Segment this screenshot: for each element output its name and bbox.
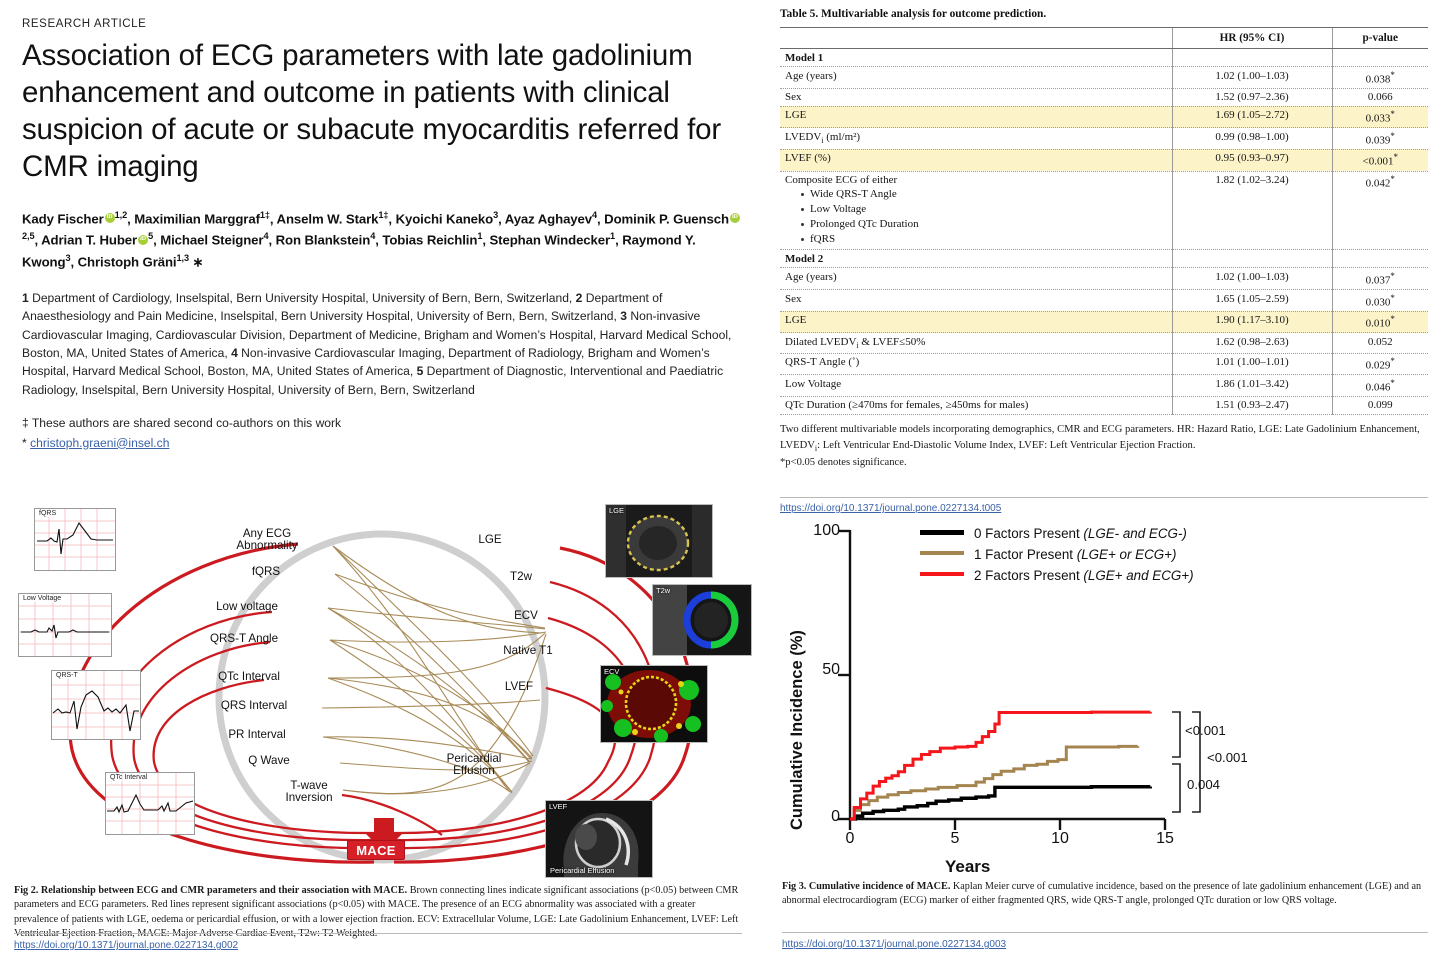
affiliation-number: 3 [620, 309, 630, 323]
table-cell-pvalue [1332, 250, 1428, 268]
table-row: Low Voltage1.86 (1.01–3.42)0.046* [780, 375, 1428, 397]
ecg-label-qtc-interval: QTc Interval [194, 671, 304, 683]
article-kicker: RESEARCH ARTICLE [22, 18, 744, 30]
table-cell-pvalue: 0.038* [1332, 67, 1428, 89]
table-col-label [780, 28, 1172, 49]
right-column: Table 5. Multivariable analysis for outc… [780, 8, 1430, 471]
table-row: LVEDVi (ml/m²)0.99 (0.98–1.00)0.039* [780, 128, 1428, 150]
chart-series-group [850, 712, 1150, 819]
author-affiliation-marker: 4 [370, 231, 375, 241]
table-cell-hr: 1.65 (1.05–2.59) [1172, 290, 1332, 312]
ecg-thumb-qrs-t: QRS-T [51, 670, 141, 740]
table-row: Age (years)1.02 (1.00–1.03)0.037* [780, 268, 1428, 290]
ecg-label-qrs-t-angle: QRS-T Angle [184, 633, 304, 645]
author-name: Maximilian Marggraf [134, 211, 260, 226]
author-name: Kyoichi Kaneko [396, 211, 494, 226]
table-cell-label: Model 2 [780, 250, 1172, 268]
table-cell-pvalue: <0.001* [1332, 149, 1428, 171]
ecg-label-low-voltage: Low voltage [191, 601, 303, 613]
chart-pvalue-brown-vs-black: 0.004 [1187, 777, 1220, 792]
cmr-thumb-ecv: ECV [600, 665, 708, 743]
ecg-thumb-low-voltage-label: Low Voltage [22, 595, 62, 602]
author-list: Kady Fischer1,2, Maximilian Marggraf1‡, … [22, 208, 744, 273]
table-cell-label: LVEF (%) [780, 149, 1172, 171]
ecg-thumb-qrs-t-label: QRS-T [55, 672, 79, 679]
cmr-thumb-t2w-label: T2w [656, 586, 670, 595]
table-cell-pvalue: 0.037* [1332, 268, 1428, 290]
figure-2: Any ECG Abnormality fQRS Low voltage QRS… [12, 500, 750, 892]
table-header-row: HR (95% CI) p-value [780, 28, 1428, 49]
table-5-body: Model 1Age (years)1.02 (1.00–1.03)0.038*… [780, 49, 1428, 415]
table-cell-pvalue: 0.010* [1332, 311, 1428, 333]
figure-3-caption-bold: Fig 3. Cumulative incidence of MACE. [782, 881, 950, 892]
ecg-label-qrs-interval: QRS Interval [198, 700, 310, 712]
table-cell-hr: 1.52 (0.97–2.36) [1172, 88, 1332, 106]
chart-plot-area [780, 520, 1420, 850]
table-row: Age (years)1.02 (1.00–1.03)0.038* [780, 67, 1428, 89]
table-cell-pvalue: 0.099 [1332, 396, 1428, 414]
affiliation-number: 1 [22, 291, 32, 305]
author-name: Michael Steigner [160, 233, 263, 248]
affiliation-number: 4 [231, 346, 241, 360]
ecg-thumb-qtc-interval-label: QTc Interval [109, 774, 148, 781]
table-cell-label: Age (years) [780, 67, 1172, 89]
left-column: RESEARCH ARTICLE Association of ECG para… [22, 18, 744, 453]
table-bullet-item: Low Voltage [801, 202, 1167, 217]
author-affiliation-marker: 4 [263, 231, 268, 241]
table-model-row: Model 1 [780, 49, 1428, 67]
table-cell-label: Dilated LVEDVi & LVEF≤50% [780, 333, 1172, 353]
cmr-label-lvef: LVEF [492, 681, 546, 693]
table-cell-hr: 1.69 (1.05–2.72) [1172, 106, 1332, 128]
article-page: RESEARCH ARTICLE Association of ECG para… [0, 0, 1456, 966]
cmr-label-t2w: T2w [495, 571, 547, 583]
chart-x-axis-label: Years [945, 857, 990, 877]
table-5-divider [780, 497, 1428, 498]
author-affiliation-marker: 5 [148, 231, 153, 241]
corresponding-author-marker: ∗ [189, 254, 204, 269]
table-row: Dilated LVEDVi & LVEF≤50%1.62 (0.98–2.63… [780, 333, 1428, 353]
ecg-label-t-wave-inversion: T-wave Inversion [267, 780, 351, 805]
table-cell-pvalue: 0.029* [1332, 353, 1428, 375]
table-col-pvalue: p-value [1332, 28, 1428, 49]
table-cell-label: Low Voltage [780, 375, 1172, 397]
orcid-icon[interactable] [138, 235, 148, 245]
page-title: Association of ECG parameters with late … [22, 38, 744, 186]
table-cell-label: LGE [780, 106, 1172, 128]
cmr-label-native-t1: Native T1 [490, 645, 566, 657]
table-cell-pvalue: 0.033* [1332, 106, 1428, 128]
table-5-title: Table 5. Multivariable analysis for outc… [780, 8, 1430, 20]
figure-2-caption-bold: Fig 2. Relationship between ECG and CMR … [14, 885, 407, 896]
figure-2-doi-link[interactable]: https://doi.org/10.1371/journal.pone.022… [14, 940, 238, 951]
corresponding-email-link[interactable]: christoph.graeni@insel.ch [30, 436, 169, 450]
cmr-label-lge: LGE [464, 534, 516, 546]
table-row: Sex1.65 (1.05–2.59)0.030* [780, 290, 1428, 312]
table-cell-label: Sex [780, 290, 1172, 312]
orcid-icon[interactable] [105, 213, 115, 223]
cmr-thumb-lvef-label: LVEF [549, 802, 567, 811]
table-cell-label: Sex [780, 88, 1172, 106]
cmr-thumb-lge-label: LGE [609, 506, 624, 515]
ecg-label-q-wave: Q Wave [228, 755, 310, 767]
author-name: Christoph Gräni [78, 254, 177, 269]
table-row: QRS-T Angle (˚)1.01 (1.00–1.01)0.029* [780, 353, 1428, 375]
author-affiliation-marker: 1‡ [378, 210, 388, 220]
cmr-thumb-pericardial-effusion-label: Pericardial Effusion [550, 866, 614, 875]
figure-2-divider [14, 933, 742, 934]
coauthor-note: ‡ These authors are shared second co-aut… [22, 414, 744, 434]
corresponding-note: * christoph.graeni@insel.ch [22, 434, 744, 454]
author-affiliation-marker: 1‡ [260, 210, 270, 220]
chart-series-brown [850, 746, 1138, 819]
table-row: QTc Duration (≥470ms for females, ≥450ms… [780, 396, 1428, 414]
table-cell-pvalue: 0.042* [1332, 171, 1428, 250]
table-cell-hr: 1.82 (1.02–3.24) [1172, 171, 1332, 250]
ecg-thumb-fqrs: fQRS [34, 508, 116, 571]
author-affiliation-marker: 3 [65, 253, 70, 263]
table-col-hr: HR (95% CI) [1172, 28, 1332, 49]
author-affiliation-marker: 1 [610, 231, 615, 241]
table-5-footnotes: Two different multivariable models incor… [780, 422, 1430, 471]
table-model-row: Model 2 [780, 250, 1428, 268]
mace-badge: MACE [347, 840, 405, 860]
table-cell-label: LGE [780, 311, 1172, 333]
figure-3-doi-link[interactable]: https://doi.org/10.1371/journal.pone.022… [782, 939, 1006, 950]
table-cell-hr: 1.86 (1.01–3.42) [1172, 375, 1332, 397]
ecg-label-fqrs: fQRS [229, 566, 303, 578]
table-cell-label: Model 1 [780, 49, 1172, 67]
cmr-thumb-t2w: T2w [652, 584, 752, 656]
author-affiliation-marker: 4 [592, 210, 597, 220]
table-row: LGE1.69 (1.05–2.72)0.033* [780, 106, 1428, 128]
table-cell-pvalue: 0.039* [1332, 128, 1428, 150]
ecg-thumb-qtc-interval: QTc Interval [105, 772, 195, 835]
cmr-thumb-lvef: LVEF Pericardial Effusion [545, 800, 653, 878]
chart-pvalue-overall: <0.001 [1207, 750, 1248, 765]
table-bullet-item: Wide QRS-T Angle [801, 187, 1167, 202]
author-affiliation-marker: 1,2 [115, 210, 127, 220]
table-row: Sex1.52 (0.97–2.36)0.066 [780, 88, 1428, 106]
figure-3-divider [782, 932, 1428, 933]
table-cell-label: Composite ECG of eitherWide QRS-T AngleL… [780, 171, 1172, 250]
author-name: Dominik P. Guensch [604, 211, 729, 226]
author-name: Kady Fischer [22, 211, 104, 226]
table-cell-hr: 0.95 (0.93–0.97) [1172, 149, 1332, 171]
author-name: Stephan Windecker [489, 233, 610, 248]
table-cell-hr [1172, 250, 1332, 268]
table-cell-label: LVEDVi (ml/m²) [780, 128, 1172, 150]
ecg-thumb-low-voltage: Low Voltage [18, 593, 112, 657]
affiliation-number: 2 [576, 291, 586, 305]
chart-series-red [850, 712, 1150, 819]
table-cell-pvalue: 0.052 [1332, 333, 1428, 353]
star-symbol: * [22, 436, 27, 450]
author-affiliation-marker: 3 [493, 210, 498, 220]
cmr-thumb-lge: LGE [605, 504, 713, 578]
author-name: Adrian T. Huber [41, 233, 137, 248]
author-name: Tobias Reichlin [382, 233, 477, 248]
table-row: Composite ECG of eitherWide QRS-T AngleL… [780, 171, 1428, 250]
affiliation-number: 5 [417, 364, 427, 378]
table-5-doi-link[interactable]: https://doi.org/10.1371/journal.pone.022… [780, 503, 1001, 514]
author-notes: ‡ These authors are shared second co-aut… [22, 414, 744, 453]
cmr-label-ecv: ECV [499, 610, 553, 622]
table-5-footnote-2: *p<0.05 denotes significance. [780, 455, 1430, 471]
ecg-thumb-fqrs-label: fQRS [38, 510, 57, 517]
table-bullet-item: fQRS [801, 232, 1167, 247]
table-cell-label: QTc Duration (≥470ms for females, ≥450ms… [780, 396, 1172, 414]
table-cell-hr: 1.02 (1.00–1.03) [1172, 268, 1332, 290]
table-row: LVEF (%)0.95 (0.93–0.97)<0.001* [780, 149, 1428, 171]
author-name: Ron Blankstein [276, 233, 371, 248]
ecg-label-any-ecg-abnormality: Any ECG Abnormality [217, 528, 317, 553]
table-row: LGE1.90 (1.17–3.10)0.010* [780, 311, 1428, 333]
ecg-label-pr-interval: PR Interval [204, 729, 310, 741]
table-5-head: HR (95% CI) p-value [780, 28, 1428, 49]
table-bullet-item: Prolonged QTc Duration [801, 217, 1167, 232]
table-cell-hr: 1.01 (1.00–1.01) [1172, 353, 1332, 375]
chart-series-black [850, 786, 1150, 819]
table-cell-hr [1172, 49, 1332, 67]
affiliations: 1 Department of Cardiology, Inselspital,… [22, 289, 744, 399]
table-cell-bullet-list: Wide QRS-T AngleLow VoltageProlonged QTc… [801, 187, 1167, 247]
table-cell-pvalue [1332, 49, 1428, 67]
cmr-label-pericardial-effusion: Pericardial Effusion [432, 753, 516, 778]
chart-pvalue-red-vs-brown: <0.001 [1185, 723, 1226, 738]
table-cell-pvalue: 0.046* [1332, 375, 1428, 397]
table-cell-hr: 1.02 (1.00–1.03) [1172, 67, 1332, 89]
table-cell-pvalue: 0.030* [1332, 290, 1428, 312]
author-affiliation-marker: 1,3 [176, 253, 188, 263]
table-cell-hr: 0.99 (0.98–1.00) [1172, 128, 1332, 150]
author-affiliation-marker: 1 [477, 231, 482, 241]
author-affiliation-marker: 2,5 [22, 231, 34, 241]
author-name: Ayaz Aghayev [505, 211, 592, 226]
figure-3-caption: Fig 3. Cumulative incidence of MACE. Kap… [782, 880, 1428, 909]
table-cell-hr: 1.62 (0.98–2.63) [1172, 333, 1332, 353]
orcid-icon[interactable] [730, 213, 740, 223]
table-cell-hr: 1.90 (1.17–3.10) [1172, 311, 1332, 333]
author-name: Anselm W. Stark [277, 211, 379, 226]
table-5: HR (95% CI) p-value Model 1Age (years)1.… [780, 27, 1428, 415]
table-5-footnote-1: Two different multivariable models incor… [780, 422, 1430, 455]
table-cell-label: QRS-T Angle (˚) [780, 353, 1172, 375]
cmr-thumb-ecv-label: ECV [604, 667, 619, 676]
table-cell-hr: 1.51 (0.93–2.47) [1172, 396, 1332, 414]
table-cell-pvalue: 0.066 [1332, 88, 1428, 106]
table-cell-label: Age (years) [780, 268, 1172, 290]
